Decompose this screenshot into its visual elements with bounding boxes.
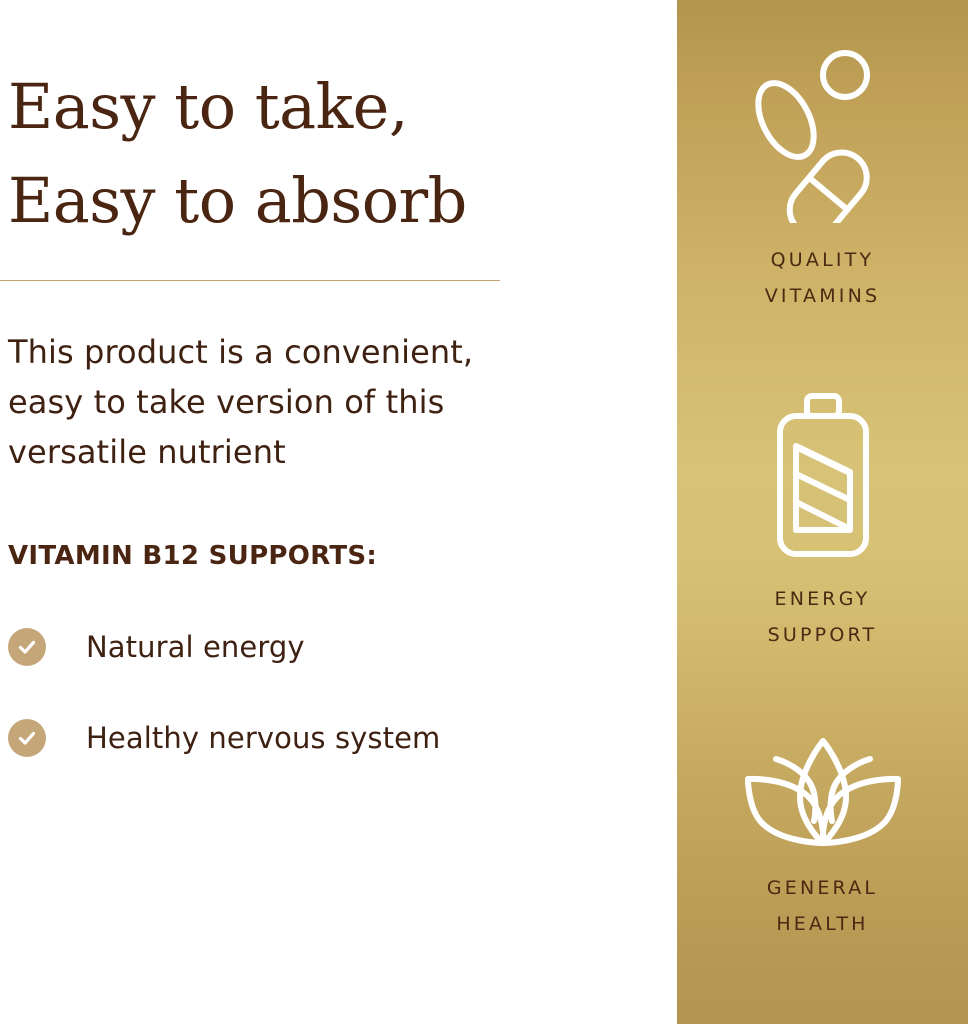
headline-line-1: Easy to take,	[8, 60, 648, 154]
feature-sidebar: QUALITY VITAMINS	[677, 0, 968, 1024]
sidebar-feature-label: GENERAL HEALTH	[767, 870, 878, 942]
check-icon	[8, 719, 46, 757]
left-content-pane: Easy to take, Easy to absorb This produc…	[0, 0, 677, 1024]
sidebar-feature-energy-support: ENERGY SUPPORT	[677, 390, 968, 653]
benefit-list: Natural energy Healthy nervous system	[8, 624, 628, 806]
intro-line-1: This product is a convenient,	[8, 327, 608, 377]
feature-label-line-2: VITAMINS	[765, 278, 881, 314]
feature-label-line-2: SUPPORT	[768, 617, 878, 653]
sidebar-feature-label: ENERGY SUPPORT	[768, 581, 878, 653]
promo-panel: Easy to take, Easy to absorb This produc…	[0, 0, 968, 1024]
list-item: Healthy nervous system	[8, 715, 628, 761]
feature-label-line-1: GENERAL	[767, 870, 878, 906]
pills-icon	[748, 48, 898, 228]
feature-label-line-1: QUALITY	[765, 242, 881, 278]
supports-heading: VITAMIN B12 SUPPORTS:	[8, 541, 377, 571]
lotus-icon	[742, 735, 904, 856]
list-item: Natural energy	[8, 624, 628, 670]
benefit-label: Natural energy	[86, 630, 305, 664]
headline-line-2: Easy to absorb	[8, 154, 648, 248]
feature-label-line-2: HEALTH	[767, 906, 878, 942]
sidebar-feature-quality-vitamins: QUALITY VITAMINS	[677, 48, 968, 314]
divider	[0, 280, 500, 281]
feature-label-line-1: ENERGY	[768, 581, 878, 617]
battery-icon	[763, 390, 883, 567]
intro-paragraph: This product is a convenient, easy to ta…	[8, 327, 608, 477]
page-title: Easy to take, Easy to absorb	[8, 60, 648, 248]
intro-line-2: easy to take version of this	[8, 377, 608, 427]
intro-line-3: versatile nutrient	[8, 427, 608, 477]
benefit-label: Healthy nervous system	[86, 721, 440, 755]
sidebar-feature-general-health: GENERAL HEALTH	[677, 735, 968, 942]
sidebar-feature-label: QUALITY VITAMINS	[765, 242, 881, 314]
check-icon	[8, 628, 46, 666]
